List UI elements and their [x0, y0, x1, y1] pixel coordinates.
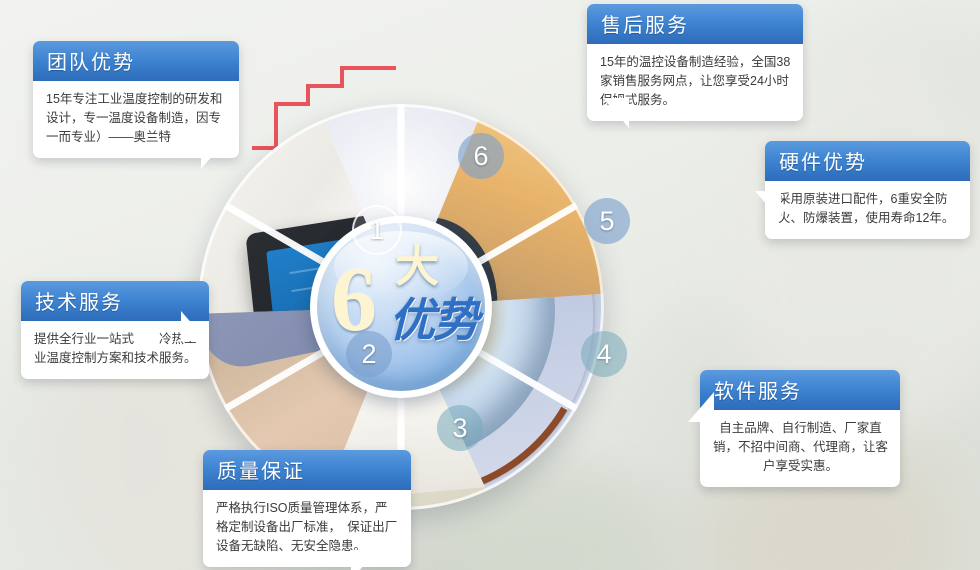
segment-number-1[interactable]: 1 [352, 205, 402, 255]
card-team-advantage[interactable]: 团队优势 15年专注工业温度控制的研发和设计，专一温度设备制造，因专一而专业）—… [33, 41, 239, 158]
card-title: 质量保证 [217, 455, 397, 484]
card-title: 硬件优势 [779, 146, 956, 175]
infographic-canvas: 6 大 优势 1 2 3 4 5 6 团队优势 15年专注工业温度控制的研发和设… [0, 0, 980, 570]
card-title: 售后服务 [601, 9, 789, 38]
card-title: 团队优势 [47, 46, 225, 75]
card-body: 采用原装进口配件，6重安全防火、防爆装置，使用寿命12年。 [765, 181, 970, 239]
segment-number-4[interactable]: 4 [581, 331, 627, 377]
card-header: 售后服务 [587, 4, 803, 44]
card-tail [755, 191, 781, 221]
segment-number-5[interactable]: 5 [584, 198, 630, 244]
card-tail [603, 98, 629, 128]
card-title: 技术服务 [35, 286, 195, 315]
card-title: 软件服务 [714, 375, 886, 404]
card-body: 自主品牌、自行制造、厂家直销，不招中间商、代理商，让客户享受实惠。 [700, 410, 900, 487]
card-header: 团队优势 [33, 41, 239, 81]
segment-number-6[interactable]: 6 [458, 133, 504, 179]
card-header: 软件服务 [700, 370, 900, 410]
card-hardware-advantage[interactable]: 硬件优势 采用原装进口配件，6重安全防火、防爆装置，使用寿命12年。 [765, 141, 970, 239]
card-tail [688, 392, 714, 422]
card-body: 严格执行ISO质量管理体系，严格定制设备出厂标准， 保证出厂设备无缺陷、无安全隐… [203, 490, 411, 567]
segment-number-3[interactable]: 3 [437, 405, 483, 451]
badge-big-char: 大 [395, 245, 439, 289]
card-quality-assurance[interactable]: 质量保证 严格执行ISO质量管理体系，严格定制设备出厂标准， 保证出厂设备无缺陷… [203, 450, 411, 567]
center-badge: 6 大 优势 [310, 216, 492, 398]
card-tail [351, 550, 377, 570]
card-header: 硬件优势 [765, 141, 970, 181]
card-after-sales-service[interactable]: 售后服务 15年的温控设备制造经验，全国38家销售服务网点，让您享受24小时保姆… [587, 4, 803, 121]
card-software-service[interactable]: 软件服务 自主品牌、自行制造、厂家直销，不招中间商、代理商，让客户享受实惠。 [700, 370, 900, 487]
segment-number-2[interactable]: 2 [346, 331, 392, 377]
card-header: 质量保证 [203, 450, 411, 490]
card-technical-service[interactable]: 技术服务 提供全行业一站式 冷热工业温度控制方案和技术服务。 [21, 281, 209, 379]
card-tail [201, 139, 227, 169]
badge-script-text: 优势 [389, 297, 477, 345]
card-tail [181, 311, 207, 341]
